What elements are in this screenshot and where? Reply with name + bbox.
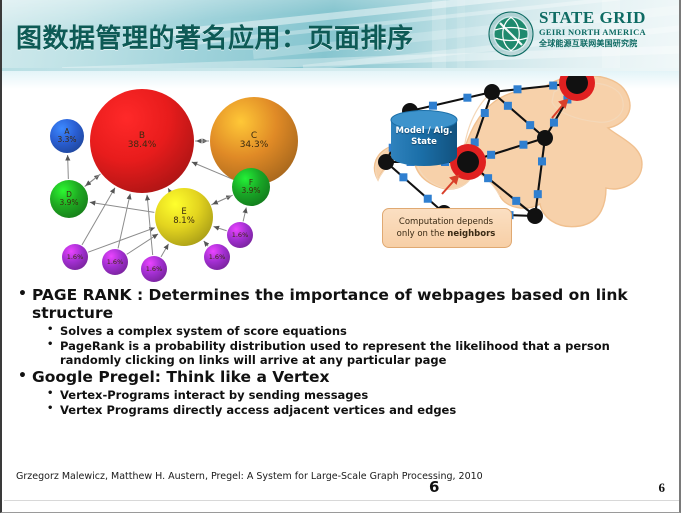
graph-edge [118, 194, 130, 249]
slide: 图数据管理的著名应用：页面排序 STATE GRID GEIRI NORTH A… [0, 0, 681, 513]
graph-node-e: E8.1% [155, 188, 213, 246]
bullet-level-2: Vertex-Programs interact by sending mess… [16, 388, 666, 402]
database-label: Model / Alg. State [388, 126, 460, 148]
edge-marker [424, 195, 432, 203]
graph-edge [147, 195, 153, 255]
graph-node-d: D3.9% [50, 180, 88, 218]
brand-subtitle: GEIRI NORTH AMERICA [539, 27, 677, 38]
edge-marker [526, 121, 534, 129]
callout-line2-plain: only on the [397, 229, 448, 239]
slide-header: 图数据管理的著名应用：页面排序 STATE GRID GEIRI NORTH A… [2, 0, 681, 68]
edge-marker [504, 102, 512, 110]
brand-logo: STATE GRID GEIRI NORTH AMERICA 全球能源互联网美国… [487, 6, 677, 62]
brand-logo-text: STATE GRID GEIRI NORTH AMERICA 全球能源互联网美国… [539, 9, 677, 49]
callout-line2-bold: neighbors [447, 229, 495, 239]
edge-marker [487, 151, 495, 159]
brand-subtitle-cn: 全球能源互联网美国研究院 [539, 38, 677, 49]
node-value: 3.9% [59, 199, 78, 207]
graph-edge [161, 244, 169, 257]
bullet-list: PAGE RANK : Determines the importance of… [16, 286, 666, 418]
graph-edge [168, 188, 169, 190]
edge-marker [514, 85, 522, 93]
node-value: 8.1% [173, 217, 195, 226]
citation: Grzegorz Malewicz, Matthew H. Austern, P… [16, 471, 636, 482]
node-value: 1.6% [67, 254, 84, 261]
node-value: 34.3% [240, 141, 269, 150]
edge-marker [549, 82, 557, 90]
graph-node-f: F3.9% [232, 168, 270, 206]
page-number-overlay: 6 [429, 478, 439, 496]
graph-node-g4: 1.6% [204, 244, 230, 270]
database-label-line1: Model / Alg. [388, 126, 460, 137]
footer-divider [4, 500, 681, 501]
graph-node-g5: 1.6% [227, 222, 253, 248]
graph-node-g3: 1.6% [141, 256, 167, 282]
graph-edge [212, 195, 232, 204]
state-grid-globe-icon [487, 10, 535, 58]
graph-edge [214, 226, 227, 230]
edge-marker [534, 190, 542, 198]
graph-edge [85, 174, 100, 186]
page-title: 图数据管理的著名应用：页面排序 [16, 18, 414, 55]
graph-node-g2: 1.6% [102, 249, 128, 275]
graph-edge [90, 202, 155, 212]
graph-edge [204, 241, 208, 246]
pregel-graph-svg [370, 76, 675, 281]
graph-edge [127, 234, 158, 254]
database-label-line2: State [388, 137, 460, 148]
edge-marker [512, 197, 520, 205]
edge-marker [550, 119, 558, 127]
pregel-diagram: Model / Alg. State Computation depends o… [370, 76, 675, 281]
bullet-level-2: Vertex Programs directly access adjacent… [16, 403, 666, 417]
graph-node-g1: 1.6% [62, 244, 88, 270]
bullet-level-2: PageRank is a probability distribution u… [16, 339, 666, 367]
edge-marker [429, 102, 437, 110]
callout-text: Computation depends only on the neighbor… [382, 216, 510, 240]
edge-marker [484, 174, 492, 182]
node-value: 1.6% [107, 259, 124, 266]
edge-marker [399, 173, 407, 181]
graph-node-b: B38.4% [90, 89, 194, 193]
brand-name: STATE GRID [539, 9, 677, 27]
callout-line1: Computation depends [382, 216, 510, 228]
header-vstripe [432, 0, 446, 68]
vertex-node [537, 130, 553, 146]
vertex-node [457, 151, 479, 173]
pagerank-diagram: A3.3%B38.4%C34.3%D3.9%E8.1%F3.9%1.6%1.6%… [14, 76, 354, 281]
edge-marker [481, 109, 489, 117]
node-value: 3.9% [241, 187, 260, 195]
vertex-node [484, 84, 500, 100]
node-value: 1.6% [146, 266, 163, 273]
edge-marker [538, 157, 546, 165]
node-value: 1.6% [232, 232, 249, 239]
vertex-node [527, 208, 543, 224]
page-number: 6 [659, 480, 666, 496]
graph-node-a: A3.3% [50, 119, 84, 153]
bullet-level-1: PAGE RANK : Determines the importance of… [16, 286, 666, 322]
edge-marker [463, 94, 471, 102]
graph-edge [243, 207, 246, 221]
node-value: 3.3% [57, 136, 76, 144]
bullet-level-2: Solves a complex system of score equatio… [16, 324, 666, 338]
graph-edge [68, 155, 69, 179]
node-value: 1.6% [209, 254, 226, 261]
node-value: 38.4% [128, 141, 157, 150]
header-vstripe [457, 0, 465, 68]
bullet-level-1: Google Pregel: Think like a Vertex [16, 368, 666, 386]
edge-marker [519, 141, 527, 149]
callout-line2: only on the neighbors [382, 228, 510, 240]
